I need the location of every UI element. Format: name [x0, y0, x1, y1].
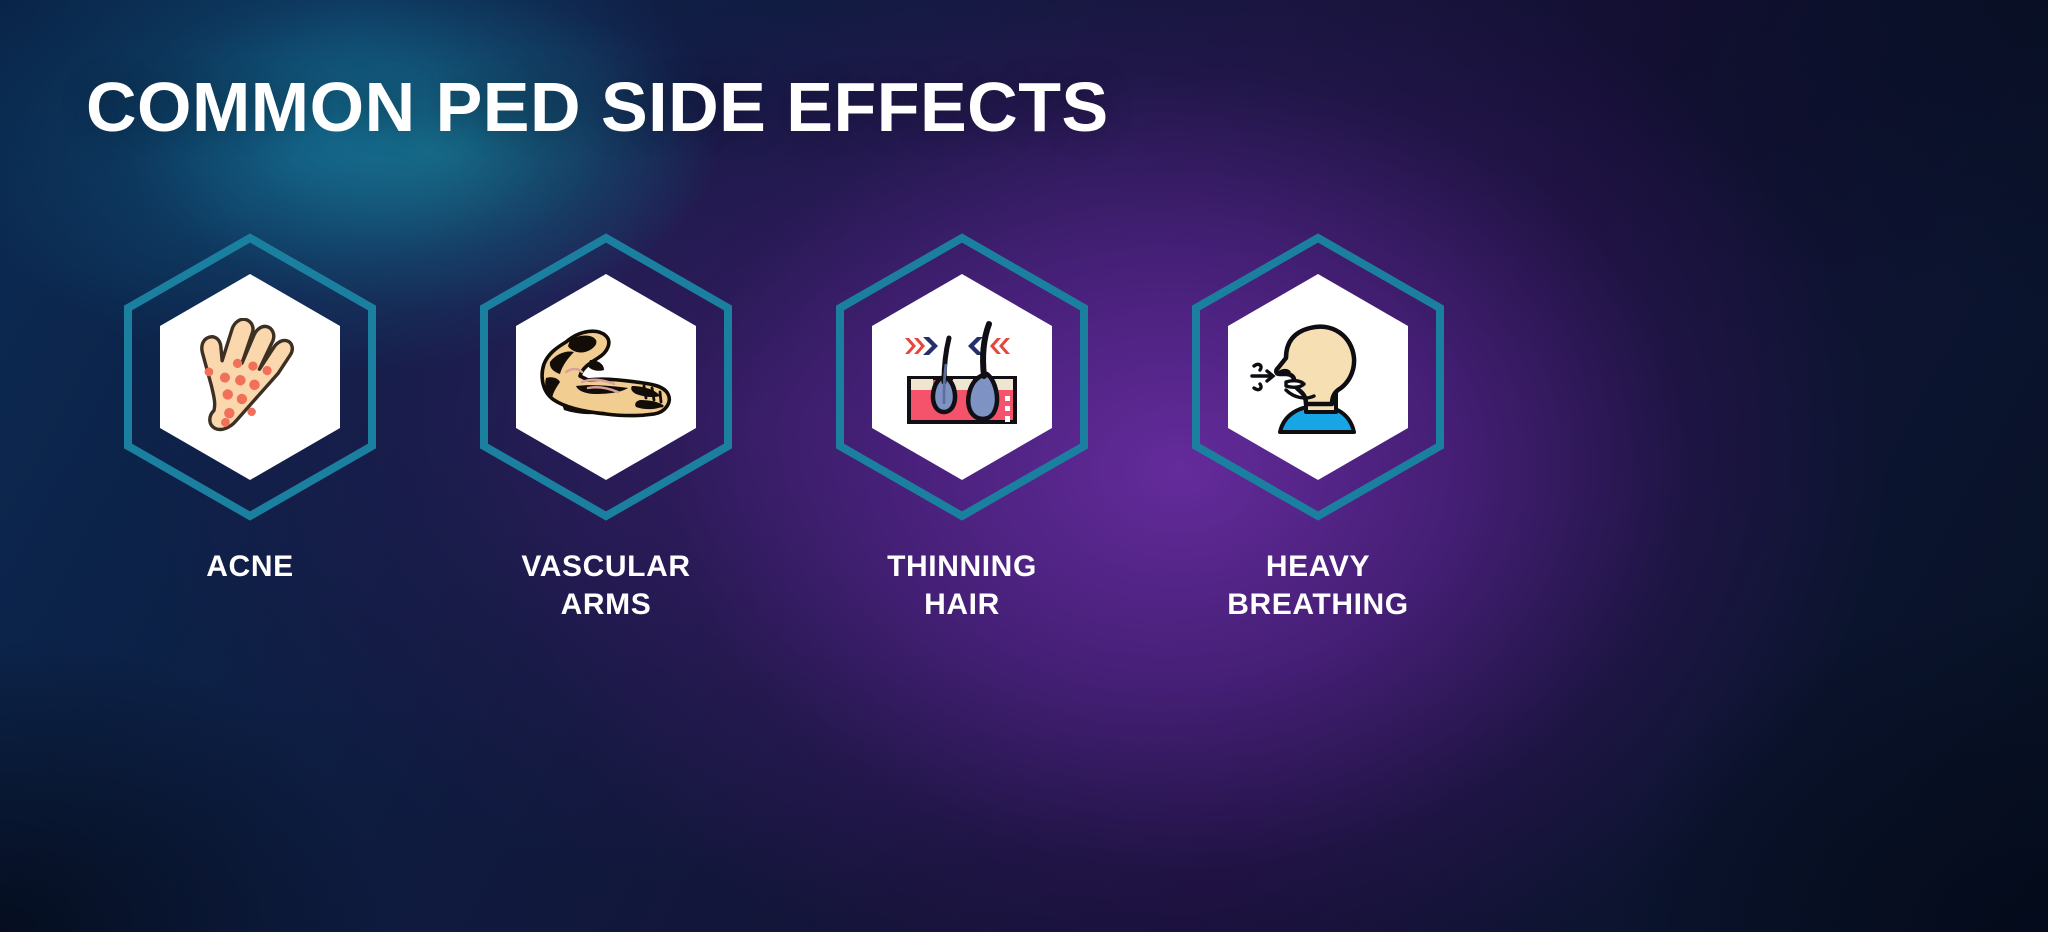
badge-label-heavy-breathing: HEAVY BREATHING — [1227, 548, 1409, 625]
badge-label-thinning-hair: THINNING HAIR — [887, 548, 1037, 625]
hexagon-frame-heavy-breathing — [1190, 232, 1446, 522]
badge-label-acne: ACNE — [206, 548, 293, 586]
icon-heavy-breathing — [1243, 312, 1393, 442]
badge-label-vascular-arms: VASCULAR ARMS — [521, 548, 690, 625]
side-effects-badge-row: ACNE — [0, 232, 2048, 625]
infographic-canvas: COMMON PED SIDE EFFECTS — [0, 0, 2048, 932]
spotted-hand-icon — [184, 318, 316, 436]
hexagon-frame-acne — [122, 232, 378, 522]
badge-acne[interactable]: ACNE — [122, 232, 378, 625]
icon-acne — [175, 312, 325, 442]
hexagon-frame-thinning-hair — [834, 232, 1090, 522]
page-title: COMMON PED SIDE EFFECTS — [86, 72, 1109, 142]
icon-vascular-arms — [531, 312, 681, 442]
hair-follicle-icon — [897, 316, 1027, 438]
badge-thinning-hair[interactable]: THINNING HAIR — [834, 232, 1090, 625]
breathing-head-profile-icon — [1250, 314, 1386, 440]
hexagon-frame-vascular-arms — [478, 232, 734, 522]
icon-thinning-hair — [887, 312, 1037, 442]
flexed-vascular-arm-icon — [536, 324, 676, 430]
badge-heavy-breathing[interactable]: HEAVY BREATHING — [1190, 232, 1446, 625]
badge-vascular-arms[interactable]: VASCULAR ARMS — [478, 232, 734, 625]
arrow-chevrons — [905, 337, 1010, 355]
